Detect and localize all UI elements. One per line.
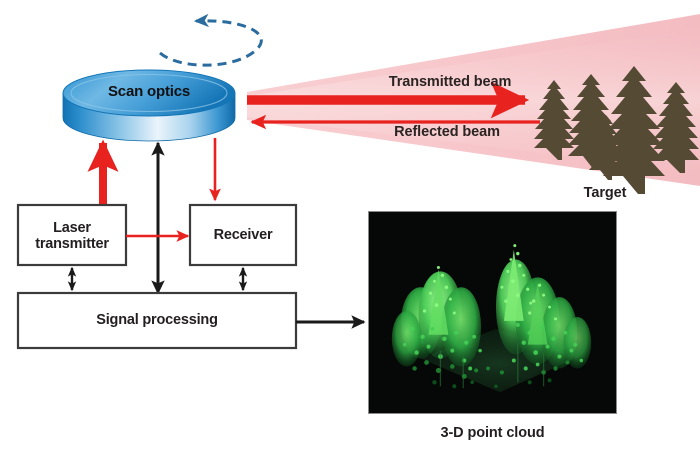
scan-optics-label: Scan optics	[0, 84, 298, 101]
laser-transmitter-label-line1: Laser	[18, 220, 126, 236]
transmitted-beam-label: Transmitted beam	[370, 74, 530, 90]
laser-transmitter-label-line2: transmitter	[18, 236, 126, 252]
point-cloud-label: 3-D point cloud	[368, 425, 617, 441]
reflected-beam-label: Reflected beam	[372, 124, 522, 140]
point-cloud-image	[368, 211, 617, 414]
scan-optics-cylinder	[63, 70, 235, 141]
point-cloud-render	[369, 212, 616, 413]
target-label: Target	[550, 185, 660, 201]
signal-processing-label: Signal processing	[18, 312, 296, 328]
receiver-label: Receiver	[190, 227, 296, 243]
diagram-canvas: Scan optics Laser transmitter Receiver S…	[0, 0, 700, 453]
rotation-direction-arrow	[160, 21, 261, 65]
